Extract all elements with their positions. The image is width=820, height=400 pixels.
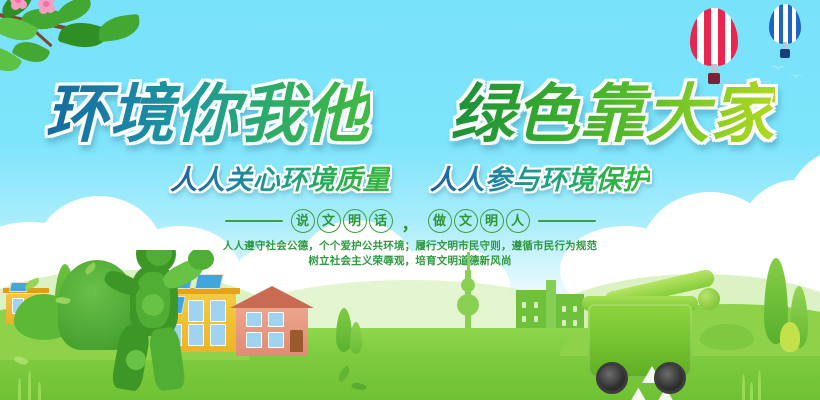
slogan-char: 文 — [454, 209, 478, 233]
grass-blade — [18, 378, 21, 400]
slogan-row: 说 文 明 话 ， 做 文 明 人 — [0, 209, 820, 233]
slogan-chars-right: 做 文 明 人 — [428, 209, 530, 233]
poster-subtitle: 人人关心环境质量 人人参与环境保护 — [0, 164, 820, 198]
slogan-char: 文 — [317, 209, 341, 233]
bin-wheel — [654, 362, 686, 394]
subtitle-part-1: 人人关心环境质量 — [170, 165, 390, 196]
grass-blade — [758, 370, 761, 400]
subtitle-part-2: 人人参与环境保护 — [430, 165, 650, 196]
grass-blade — [28, 370, 31, 400]
slogan-rule-right — [538, 220, 596, 222]
grass-blade — [742, 374, 745, 400]
headline-part-1: 环境你我他 — [45, 78, 370, 152]
poster-text-block: 环境你我他 绿色靠大家 人人关心环境质量 人人参与环境保护 说 文 明 话 ， … — [0, 0, 820, 290]
slogan-char: 明 — [343, 209, 367, 233]
ground-scene — [0, 250, 820, 400]
grass-blade — [750, 382, 753, 400]
bin-hinge — [698, 288, 720, 310]
slogan-char: 做 — [428, 209, 452, 233]
bin-wheel — [596, 362, 628, 394]
slogan-char: 话 — [369, 209, 393, 233]
slogan-separator: ， — [401, 216, 420, 233]
poster-headline: 环境你我他 绿色靠大家 — [0, 78, 820, 152]
pink-house — [236, 284, 316, 356]
slogan-chars-left: 说 文 明 话 — [291, 209, 393, 233]
headline-part-2: 绿色靠大家 — [450, 78, 775, 152]
grass-blade — [38, 382, 41, 400]
eco-poster: 环境你我他 绿色靠大家 人人关心环境质量 人人参与环境保护 说 文 明 话 ， … — [0, 0, 820, 400]
bush-right — [700, 324, 754, 352]
slogan-char: 明 — [480, 209, 504, 233]
slogan-char: 人 — [506, 209, 530, 233]
tree-blade-small — [780, 322, 800, 352]
slogan-rule-left — [225, 220, 283, 222]
slogan-char: 说 — [291, 209, 315, 233]
leaf-man-figure — [96, 250, 226, 394]
